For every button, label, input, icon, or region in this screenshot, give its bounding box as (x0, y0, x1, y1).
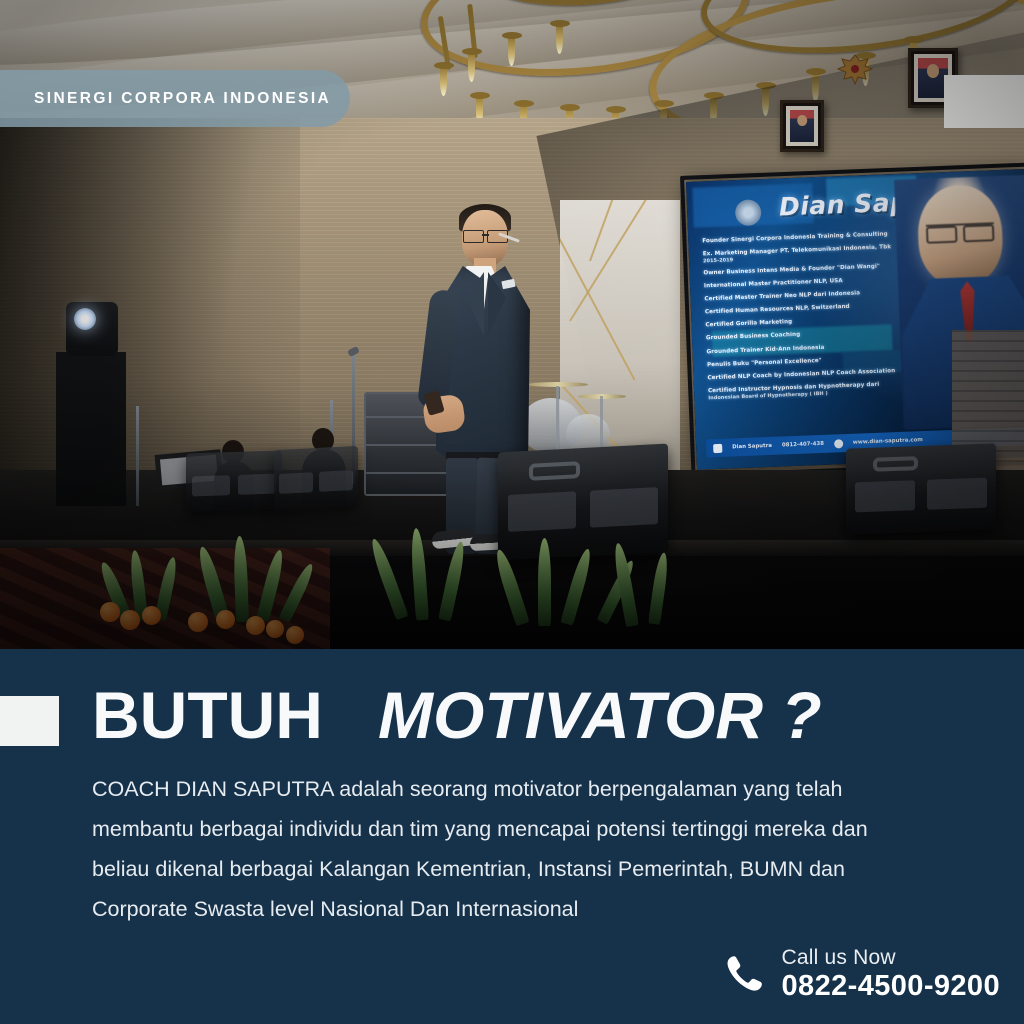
framed-portrait (780, 100, 824, 152)
accent-rectangle (0, 696, 59, 746)
decor-plants (96, 540, 736, 649)
brand-badge: SINERGI CORPORA INDONESIA (0, 70, 350, 127)
cta-phone-number[interactable]: 0822-4500-9200 (782, 970, 1000, 1002)
poster-canvas: Dian Saputra Founder Sinergi Corpora Ind… (0, 0, 1024, 1024)
led-phone: 0812-407-438 (782, 441, 824, 449)
orange-decor (246, 616, 265, 635)
cymbal-stand (556, 386, 559, 456)
stage-monitor (274, 446, 358, 510)
facebook-icon (713, 443, 722, 452)
phone-handset-icon[interactable] (722, 951, 768, 997)
light-lens-icon (74, 308, 96, 330)
orange-decor (120, 610, 140, 630)
headline-italic: MOTIVATOR ? (378, 678, 822, 752)
bottom-info-panel: BUTUH MOTIVATOR ? COACH DIAN SAPUTRA ada… (0, 649, 1024, 1024)
microphone-stand (136, 406, 139, 506)
stage-monitor (846, 443, 996, 534)
orange-decor (266, 620, 284, 638)
description-paragraph: COACH DIAN SAPUTRA adalah seorang motiva… (92, 769, 902, 929)
globe-icon (834, 439, 843, 448)
stage-monitor (186, 450, 282, 511)
brand-badge-label: SINERGI CORPORA INDONESIA (0, 90, 331, 108)
page-title: BUTUH MOTIVATOR ? (92, 682, 822, 748)
headline-plain: BUTUH (92, 678, 323, 752)
led-handle: Dian Saputra (732, 443, 772, 451)
garuda-emblem-icon (835, 52, 875, 86)
cta-label: Call us Now (782, 946, 1000, 970)
orange-decor (286, 626, 304, 644)
orange-decor (216, 610, 235, 629)
call-to-action[interactable]: Call us Now 0822-4500-9200 (722, 946, 1000, 1002)
orange-decor (100, 602, 120, 622)
white-overlay-rectangle (944, 75, 1024, 128)
led-website: www.dian-saputra.com (853, 437, 923, 446)
orange-decor (142, 606, 161, 625)
orange-decor (188, 612, 208, 632)
light-stand-base (56, 352, 126, 506)
